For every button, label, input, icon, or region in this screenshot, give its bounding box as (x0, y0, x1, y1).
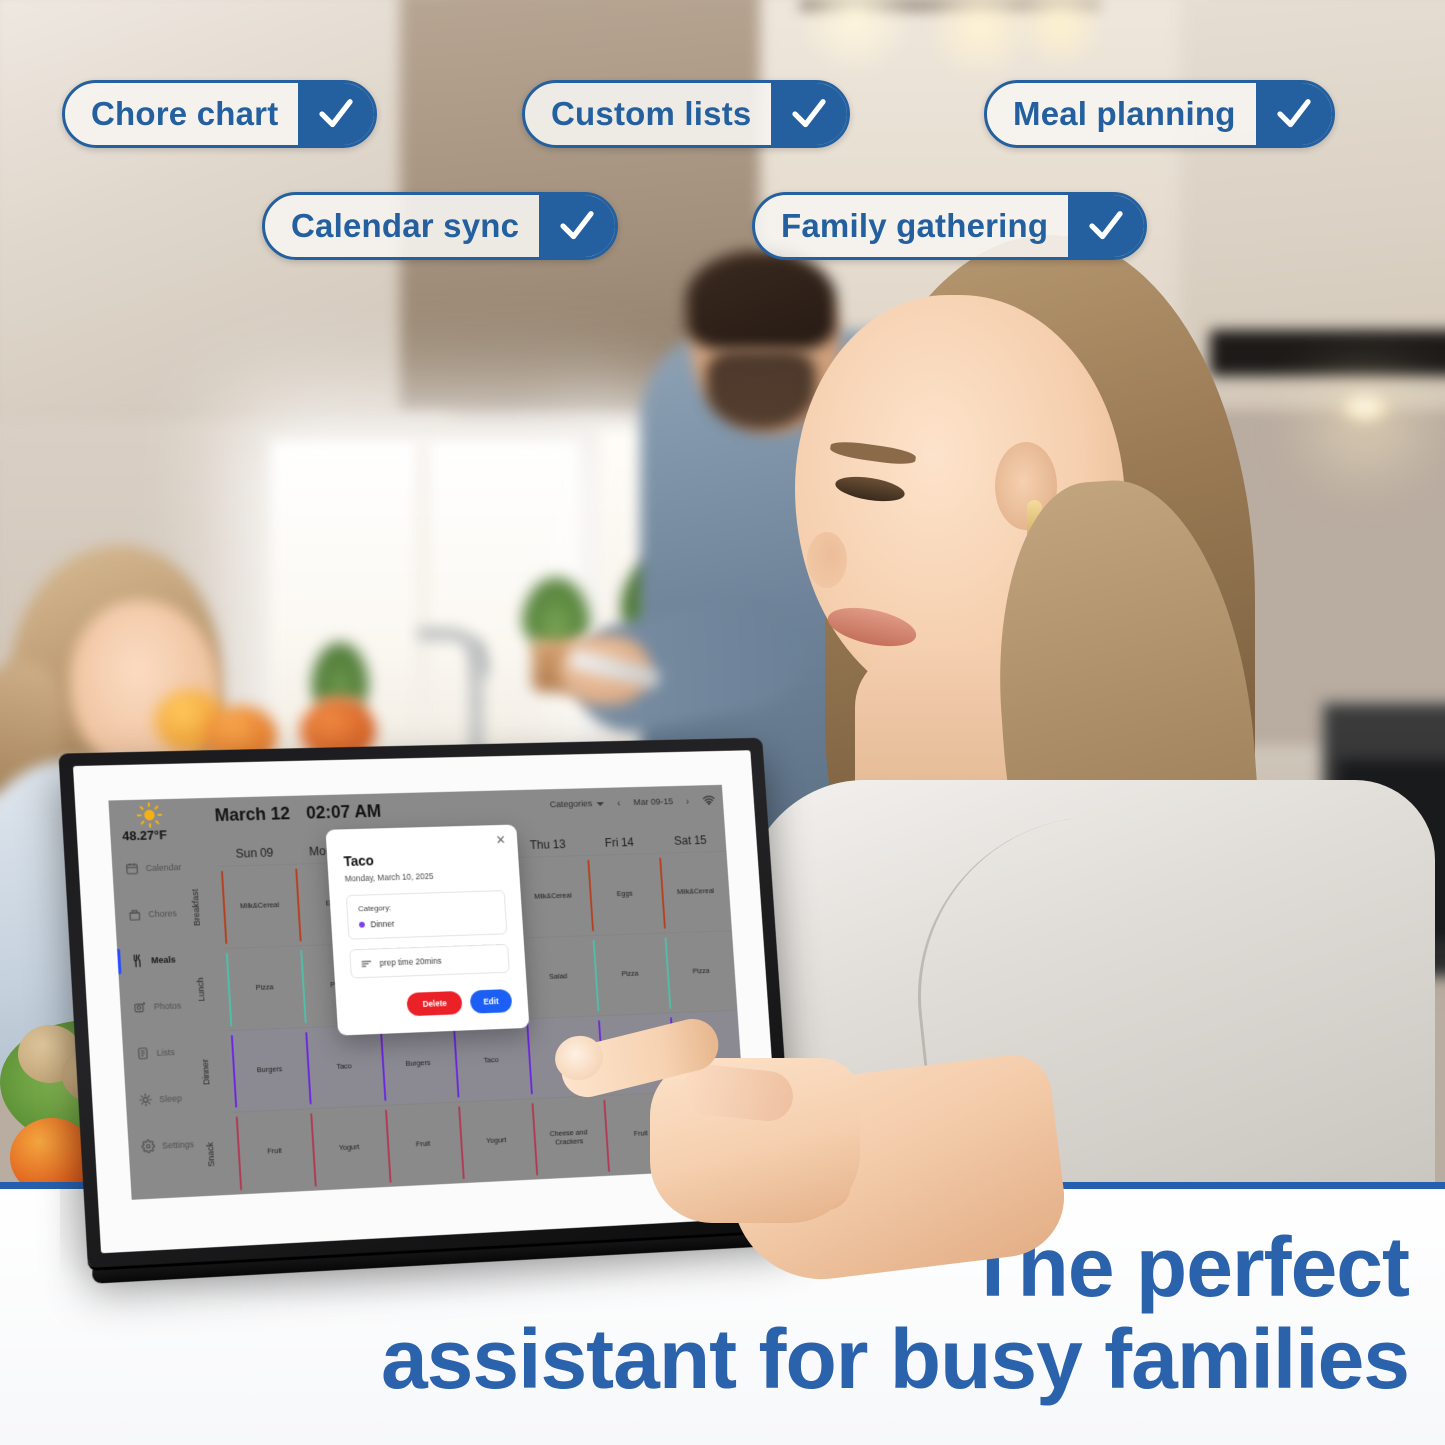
day-header-sat[interactable]: Sat15 (654, 828, 726, 853)
check-icon (1068, 195, 1144, 257)
edit-button[interactable]: Edit (470, 989, 513, 1014)
delete-button[interactable]: Delete (407, 991, 463, 1016)
meal-name: Taco (483, 1056, 498, 1065)
meal-color-bar (311, 1113, 317, 1186)
meal-color-bar (380, 1028, 386, 1101)
meal-cell[interactable]: Milk&Cereal (218, 864, 298, 948)
day-number: 14 (621, 836, 635, 850)
meal-color-bar (296, 868, 302, 941)
sidebar-label-meals: Meals (151, 954, 176, 965)
meal-cell[interactable]: Taco (302, 1024, 381, 1109)
sidebar-item-settings[interactable]: Settings (127, 1120, 206, 1170)
window-mullion (418, 440, 428, 770)
topbar-controls: Categories ‹ Mar 09-15 › (549, 794, 716, 811)
day-number: 13 (552, 837, 566, 851)
meal-color-bar (458, 1107, 465, 1180)
chevron-down-icon (597, 802, 605, 806)
day-number: 09 (260, 846, 274, 860)
meal-name: Fruit (267, 1147, 282, 1156)
day-name: Fri (604, 836, 618, 850)
meal-name: Eggs (617, 890, 633, 899)
feature-badge-calendar-sync[interactable]: Calendar sync (262, 192, 618, 260)
meal-cell[interactable]: Burgers (228, 1027, 308, 1112)
meal-name: Burgers (257, 1065, 283, 1075)
utensils-icon (130, 953, 145, 967)
meal-detail-dialog: ✕ Taco Monday, March 10, 2025 Category: … (325, 825, 529, 1036)
meal-name: Pizza (692, 967, 709, 976)
meal-color-bar (221, 871, 227, 944)
meal-color-bar (385, 1110, 391, 1183)
meal-cell[interactable]: Yogurt (308, 1105, 387, 1190)
wifi-icon (702, 794, 716, 807)
category-label: Category: (358, 900, 495, 913)
datetime-display: March 12 02:07 AM (214, 801, 381, 826)
meal-name: Salad (549, 972, 567, 981)
dialog-date: Monday, March 10, 2025 (344, 869, 503, 884)
sun-icon (136, 802, 163, 828)
meal-color-bar (226, 952, 232, 1025)
feature-badge-chore-chart[interactable]: Chore chart (62, 80, 377, 148)
chevron-right-icon[interactable]: › (686, 796, 690, 807)
feature-label: Meal planning (987, 83, 1256, 145)
check-icon (298, 83, 374, 145)
meal-color-bar (593, 940, 600, 1012)
sidebar-item-calendar[interactable]: Calendar (111, 843, 190, 891)
meal-name: Pizza (255, 983, 273, 992)
feature-label: Custom lists (525, 83, 771, 145)
sidebar-item-sleep[interactable]: Sleep (125, 1074, 204, 1124)
feature-label: Chore chart (65, 83, 298, 145)
sidebar-label-settings: Settings (162, 1139, 194, 1150)
feature-badges: Chore chart Custom lists Meal planning C… (0, 0, 1445, 270)
meal-cell[interactable]: Pizza (661, 930, 737, 1012)
categories-label: Categories (549, 799, 592, 811)
meal-color-bar (236, 1117, 242, 1191)
meal-name: Yogurt (339, 1144, 360, 1153)
meal-color-bar (587, 860, 594, 931)
feature-badge-family-gathering[interactable]: Family gathering (752, 192, 1147, 260)
meal-color-bar (306, 1031, 312, 1104)
dialog-title: Taco (343, 849, 503, 869)
meal-name: Milk&Cereal (534, 892, 572, 901)
sidebar-item-meals[interactable]: Meals (116, 935, 195, 984)
lists-icon (136, 1046, 151, 1060)
day-header-fri[interactable]: Fri14 (583, 830, 656, 855)
meal-name: Pizza (621, 970, 638, 979)
meal-cell[interactable]: Fruit (233, 1109, 313, 1195)
day-header-sun[interactable]: Sun09 (216, 840, 292, 866)
sidebar-label-sleep: Sleep (159, 1093, 182, 1104)
close-icon[interactable]: ✕ (495, 833, 506, 846)
meal-name: Yogurt (486, 1137, 507, 1146)
notes-icon (361, 959, 372, 968)
week-range-label: Mar 09-15 (633, 796, 673, 807)
feature-badge-custom-lists[interactable]: Custom lists (522, 80, 850, 148)
day-name: Thu (529, 838, 550, 852)
meal-color-bar (301, 950, 307, 1023)
feature-badge-meal-planning[interactable]: Meal planning (984, 80, 1335, 148)
category-value-row: Dinner (359, 915, 496, 929)
day-number: 15 (693, 833, 707, 847)
meal-cell[interactable]: Yogurt (455, 1099, 533, 1184)
meal-color-bar (453, 1026, 460, 1098)
categories-dropdown[interactable]: Categories (549, 798, 604, 810)
check-icon (539, 195, 615, 257)
meal-color-bar (231, 1034, 237, 1107)
chores-icon (127, 907, 142, 921)
woman-nose (807, 532, 847, 588)
feature-label: Calendar sync (265, 195, 539, 257)
check-icon (1256, 83, 1332, 145)
meal-cell[interactable]: Salad (518, 935, 595, 1018)
meal-cell[interactable]: Fruit (382, 1102, 461, 1187)
day-name: Sun (235, 846, 257, 860)
photos-icon (133, 999, 148, 1013)
feature-label: Family gathering (755, 195, 1068, 257)
meal-color-bar (531, 1103, 538, 1175)
meal-name: Taco (336, 1062, 352, 1071)
sidebar-label-lists: Lists (156, 1047, 175, 1058)
sidebar-label-photos: Photos (154, 1000, 182, 1011)
sleep-icon (138, 1092, 153, 1106)
meal-name: Fruit (416, 1140, 431, 1149)
note-text: prep time 20mins (379, 956, 441, 968)
sidebar-label-chores: Chores (148, 908, 177, 919)
category-section: Category: Dinner (346, 890, 508, 940)
check-icon (771, 83, 847, 145)
meal-color-bar (664, 937, 671, 1008)
meal-cell[interactable]: Pizza (223, 945, 303, 1030)
category-color-dot (359, 922, 365, 928)
day-name: Sat (674, 834, 692, 848)
current-time: 02:07 AM (306, 801, 382, 822)
meal-color-bar (659, 858, 666, 929)
sidebar-item-lists[interactable]: Lists (122, 1028, 201, 1077)
meal-cell[interactable]: Pizza (590, 932, 667, 1015)
dialog-actions: Delete Edit (352, 989, 512, 1018)
meal-cell[interactable]: Milk&Cereal (512, 855, 589, 937)
chevron-left-icon[interactable]: ‹ (617, 797, 621, 808)
current-date: March 12 (214, 804, 290, 825)
weather-widget: 48.27°F (120, 801, 206, 843)
meal-name: Burgers (405, 1059, 430, 1068)
note-section: prep time 20mins (349, 944, 510, 979)
pointing-hand (555, 1010, 1005, 1340)
calendar-icon (125, 861, 140, 875)
temperature-readout: 48.27°F (122, 826, 207, 843)
meal-color-bar (526, 1023, 533, 1095)
gear-icon (141, 1139, 156, 1154)
sidebar-item-chores[interactable]: Chores (114, 889, 193, 938)
category-value: Dinner (370, 919, 394, 929)
day-header-thu[interactable]: Thu13 (511, 832, 584, 857)
sidebar-item-photos[interactable]: Photos (119, 981, 198, 1030)
meal-cell[interactable]: Eggs (584, 853, 661, 935)
sidebar-label-calendar: Calendar (145, 862, 181, 873)
week-navigator: ‹ Mar 09-15 › (617, 796, 690, 809)
meal-name: Milk&Cereal (240, 901, 280, 911)
meal-name: Milk&Cereal (677, 887, 714, 896)
meal-cell[interactable]: Milk&Cereal (656, 851, 732, 933)
